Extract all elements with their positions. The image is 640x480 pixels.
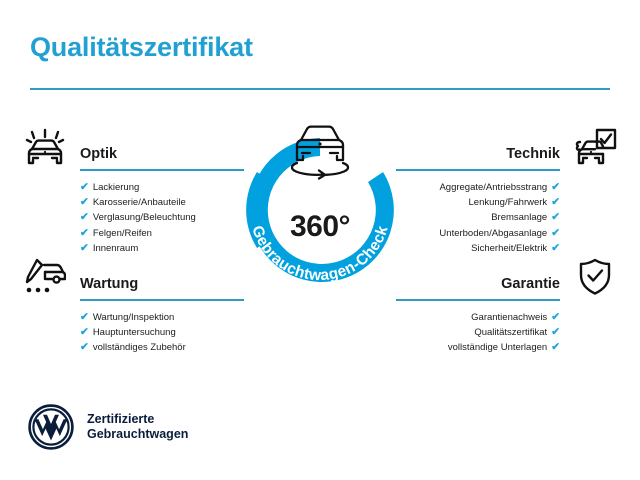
page-title: Qualitätszertifikat (30, 34, 253, 61)
check-icon: ✔ (80, 242, 89, 254)
check-icon: ✔ (551, 211, 560, 223)
service-pen-car-icon (22, 258, 68, 298)
section-underline (80, 299, 244, 301)
list-item-label: Aggregate/Antriebsstrang (439, 182, 547, 193)
check-icon: ✔ (551, 311, 560, 323)
check-icon: ✔ (551, 341, 560, 353)
list-item: Qualitätszertifikat✔ (368, 325, 560, 340)
section-underline (396, 169, 560, 171)
check-icon: ✔ (551, 326, 560, 338)
list-item-label: vollständiges Zubehör (93, 342, 186, 353)
check-icon: ✔ (80, 341, 89, 353)
car-front-rotate-icon (283, 120, 357, 180)
shield-check-icon (572, 258, 618, 298)
check-icon: ✔ (551, 196, 560, 208)
check-icon: ✔ (551, 242, 560, 254)
check-icon: ✔ (80, 326, 89, 338)
check-icon: ✔ (551, 227, 560, 239)
check-icon: ✔ (80, 211, 89, 223)
list-item-label: Karosserie/Anbauteile (93, 197, 186, 208)
section-title: Wartung (80, 276, 138, 292)
section-underline (396, 299, 560, 301)
list-item-label: Garantienachweis (471, 312, 547, 323)
list-item-label: vollständige Unterlagen (448, 342, 547, 353)
list-item-label: Lenkung/Fahrwerk (469, 197, 548, 208)
list-item-label: Wartung/Inspektion (93, 312, 175, 323)
list-item-label: Felgen/Reifen (93, 228, 152, 239)
list-item-label: Unterboden/Abgasanlage (439, 228, 547, 239)
list-item-label: Sicherheit/Elektrik (471, 243, 547, 254)
vw-roundel-logo (28, 404, 74, 450)
check-icon: ✔ (80, 196, 89, 208)
list-item: ✔vollständiges Zubehör (80, 340, 272, 355)
list-item-label: Hauptuntersuchung (93, 327, 176, 338)
list-item: ✔Hauptuntersuchung (80, 325, 272, 340)
section-title: Optik (80, 146, 117, 162)
footer-text: Zertifizierte Gebrauchtwagen (87, 412, 188, 443)
badge-360-gebrauchtwagen-check: Gebrauchtwagen-Check 360° (228, 118, 412, 302)
list-item: ✔Wartung/Inspektion (80, 310, 272, 325)
checklist: ✔Wartung/Inspektion ✔Hauptuntersuchung ✔… (80, 310, 272, 356)
list-item: vollständige Unterlagen✔ (368, 340, 560, 355)
list-item-label: Verglasung/Beleuchtung (93, 212, 196, 223)
footer-brand: Zertifizierte Gebrauchtwagen (28, 404, 188, 450)
list-item-label: Innenraum (93, 243, 138, 254)
car-checkbox-icon (572, 128, 618, 168)
list-item: Garantienachweis✔ (368, 310, 560, 325)
check-icon: ✔ (551, 181, 560, 193)
list-item-label: Lackierung (93, 182, 139, 193)
section-underline (80, 169, 244, 171)
check-icon: ✔ (80, 311, 89, 323)
section-title: Garantie (501, 276, 560, 292)
check-icon: ✔ (80, 227, 89, 239)
section-title: Technik (506, 146, 560, 162)
check-icon: ✔ (80, 181, 89, 193)
title-divider (30, 88, 610, 90)
list-item-label: Qualitätszertifikat (474, 327, 547, 338)
badge-degrees-label: 360° (228, 210, 412, 244)
car-shine-icon (22, 128, 68, 168)
checklist: Garantienachweis✔ Qualitätszertifikat✔ v… (368, 310, 560, 356)
list-item-label: Bremsanlage (491, 212, 547, 223)
